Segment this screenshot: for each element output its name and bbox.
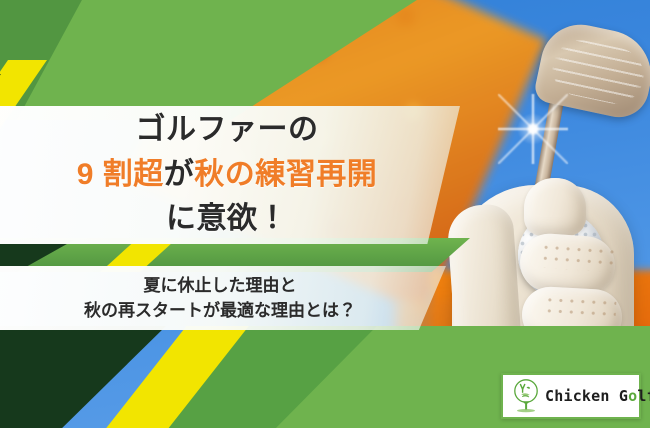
headline-text: ゴルファーの 9 割超が秋の練習再開 に意欲！ <box>77 108 378 241</box>
brand-text-after: lf <box>637 387 650 405</box>
headline-line-2: 9 割超が秋の練習再開 <box>77 153 378 197</box>
golf-glove-finger-1 <box>524 178 586 236</box>
headline-line-1: ゴルファーの <box>77 108 378 152</box>
headline-seg: ゴルファーの <box>136 113 319 146</box>
brand-logo-text: Chicken Golf <box>545 387 650 405</box>
golf-ball-on-tee-with-chick-icon <box>509 378 543 414</box>
headline-band: ゴルファーの 9 割超が秋の練習再開 に意欲！ <box>0 106 460 244</box>
brand-logo[interactable]: Chicken Golf <box>501 373 641 419</box>
headline-seg: が <box>164 158 195 191</box>
subtitle-line-1: 夏に休止した理由と <box>84 273 356 299</box>
headline-seg: に意欲！ <box>166 202 288 235</box>
brand-text-accent-letter: o <box>628 387 637 405</box>
lens-flare-sparkle-icon <box>498 94 568 164</box>
press-release-banner: ゴルファーの 9 割超が秋の練習再開 に意欲！ 夏に休止した理由と 秋の再スター… <box>0 0 650 428</box>
headline-seg-accent: 秋の練習再開 <box>194 158 377 191</box>
subtitle-line-2: 秋の再スタートが最適な理由とは？ <box>84 298 356 324</box>
subtitle-band: 夏に休止した理由と 秋の再スタートが最適な理由とは？ <box>0 266 446 330</box>
headline-seg-accent: 9 割超 <box>77 158 164 191</box>
glove-perforations-1 <box>539 241 615 272</box>
brand-text-before: Chicken G <box>545 387 628 405</box>
subtitle-text: 夏に休止した理由と 秋の再スタートが最適な理由とは？ <box>84 273 356 324</box>
headline-line-3: に意欲！ <box>77 197 378 241</box>
glove-perforations-2 <box>543 294 616 322</box>
